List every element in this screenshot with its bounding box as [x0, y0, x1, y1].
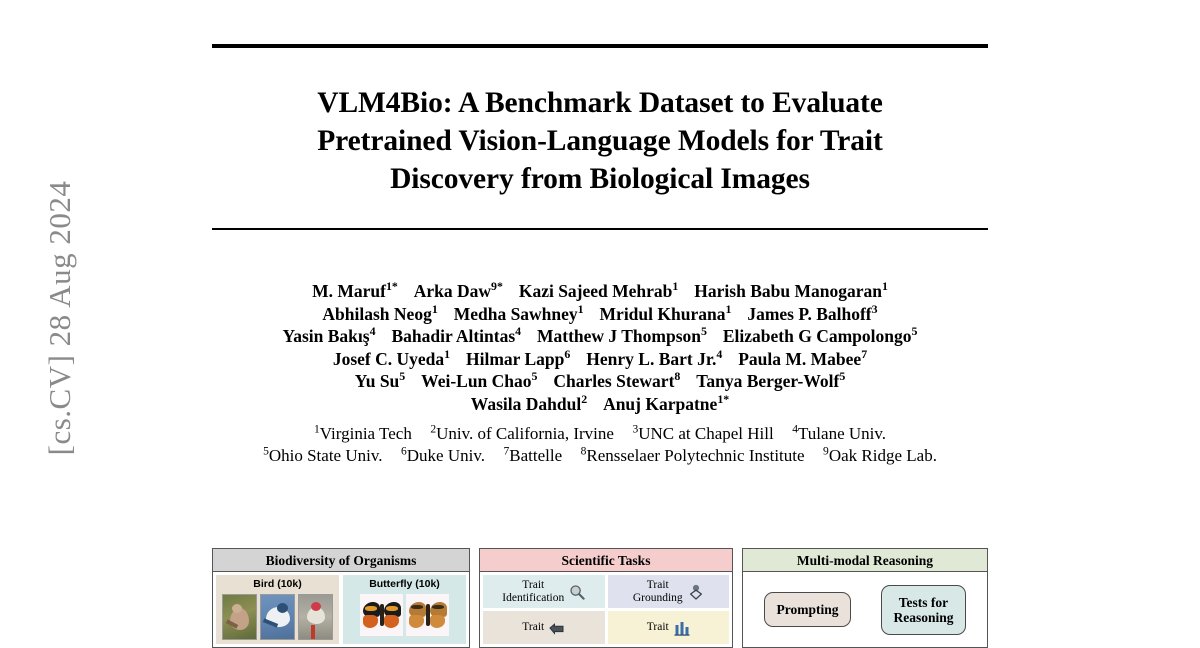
- author-affil-marker: 1: [672, 279, 678, 293]
- author-affil-marker: 5: [399, 370, 405, 384]
- author-affil-marker: 8: [674, 370, 680, 384]
- affiliation-name: Oak Ridge Lab.: [829, 446, 937, 465]
- magnifier-icon: [569, 584, 585, 600]
- author-affil-marker: 1*: [386, 279, 398, 293]
- affiliation-name: Duke Univ.: [407, 446, 485, 465]
- affiliation-name: UNC at Chapel Hill: [638, 424, 774, 443]
- author: Arka Daw9*: [414, 281, 503, 301]
- author-name: Paula M. Mabee: [738, 349, 861, 369]
- author-line: Wasila Dahdul2 Anuj Karpatne1*: [212, 393, 988, 416]
- affiliation: 4Tulane Univ.: [792, 424, 886, 443]
- bird-photo-thumbnail: [260, 594, 295, 640]
- task-cell-trait-grounding[interactable]: Trait Grounding: [608, 575, 730, 608]
- affiliation-name: Battelle: [509, 446, 562, 465]
- author-affil-marker: 6: [564, 347, 570, 361]
- title-line-3: Discovery from Biological Images: [230, 160, 970, 198]
- author-affil-marker: 5: [912, 324, 918, 338]
- author: Anuj Karpatne1*: [603, 394, 729, 414]
- task-label-trait-referring: Trait: [522, 621, 544, 634]
- author: Kazi Sajeed Mehrab1: [519, 281, 679, 301]
- author: Elizabeth G Campolongo5: [723, 326, 918, 346]
- figure-panel-biodiversity: Biodiversity of Organisms Bird (10k) But…: [212, 548, 470, 648]
- author: Medha Sawhney1: [454, 304, 584, 324]
- author-affil-marker: 1: [725, 302, 731, 316]
- author: Hilmar Lapp6: [466, 349, 570, 369]
- author-name: Medha Sawhney: [454, 304, 578, 324]
- task-label-trait-counting: Trait: [647, 621, 669, 634]
- panel-body-biodiversity: Bird (10k) Butterfly (10k): [213, 572, 469, 647]
- author-affil-marker: 7: [861, 347, 867, 361]
- author-affil-marker: 9*: [491, 279, 503, 293]
- affiliation-name: Tulane Univ.: [798, 424, 886, 443]
- author: Mridul Khurana1: [600, 304, 732, 324]
- affiliation: 7Battelle: [503, 446, 562, 465]
- author-affil-marker: 4: [370, 324, 376, 338]
- bird-thumbnails: [222, 594, 333, 640]
- author-name: M. Maruf: [312, 281, 386, 301]
- taxon-cell-butterfly: Butterfly (10k): [343, 575, 466, 644]
- author: Abhilash Neog1: [322, 304, 437, 324]
- title-rule-bottom: [212, 228, 988, 230]
- author: Yu Su5: [355, 371, 406, 391]
- author-name: Charles Stewart: [553, 371, 674, 391]
- hand-pointer-icon: [549, 620, 565, 636]
- author-affil-marker: 1*: [717, 392, 729, 406]
- author-affil-marker: 5: [839, 370, 845, 384]
- author-line: Josef C. Uyeda1 Hilmar Lapp6 Henry L. Ba…: [212, 348, 988, 371]
- author: Tanya Berger-Wolf5: [696, 371, 845, 391]
- author-name: Wei-Lun Chao: [421, 371, 531, 391]
- author-name: Abhilash Neog: [322, 304, 431, 324]
- tests-for-reasoning-button[interactable]: Tests for Reasoning: [881, 585, 965, 635]
- author-affil-marker: 4: [716, 347, 722, 361]
- location-pin-icon: [688, 584, 704, 600]
- affiliation: 2Univ. of California, Irvine: [430, 424, 614, 443]
- panel-body-multimodal-reasoning: Prompting Tests for Reasoning: [743, 572, 987, 647]
- author: James P. Balhoff3: [747, 304, 877, 324]
- author: M. Maruf1*: [312, 281, 398, 301]
- butterfly-photo-thumbnail: [406, 594, 449, 636]
- author-name: Bahadir Altintas: [391, 326, 515, 346]
- author-line: M. Maruf1* Arka Daw9* Kazi Sajeed Mehrab…: [212, 280, 988, 303]
- author-affil-marker: 1: [432, 302, 438, 316]
- author-list: M. Maruf1* Arka Daw9* Kazi Sajeed Mehrab…: [212, 280, 988, 416]
- panel-header-multimodal-reasoning: Multi-modal Reasoning: [743, 549, 987, 572]
- prompting-button[interactable]: Prompting: [764, 592, 850, 627]
- affiliation-name: Ohio State Univ.: [269, 446, 383, 465]
- affiliation: 8Rensselaer Polytechnic Institute: [581, 446, 805, 465]
- author: Josef C. Uyeda1: [333, 349, 450, 369]
- panel-header-scientific-tasks: Scientific Tasks: [480, 549, 732, 572]
- task-cell-trait-referring[interactable]: Trait: [483, 611, 605, 644]
- author-affil-marker: 5: [701, 324, 707, 338]
- author-name: Henry L. Bart Jr.: [586, 349, 716, 369]
- page-title: VLM4Bio: A Benchmark Dataset to Evaluate…: [212, 48, 988, 228]
- butterfly-thumbnails: [360, 594, 449, 636]
- task-cell-trait-counting[interactable]: Trait: [608, 611, 730, 644]
- author: Paula M. Mabee7: [738, 349, 867, 369]
- affiliation: 9Oak Ridge Lab.: [823, 446, 937, 465]
- teaser-figure: Biodiversity of Organisms Bird (10k) But…: [212, 548, 988, 648]
- taxon-cell-bird: Bird (10k): [216, 575, 339, 644]
- task-label-trait-grounding: Trait Grounding: [633, 579, 683, 605]
- title-line-2: Pretrained Vision-Language Models for Tr…: [230, 122, 970, 160]
- author-line: Yu Su5 Wei-Lun Chao5 Charles Stewart8 Ta…: [212, 370, 988, 393]
- author-name: Hilmar Lapp: [466, 349, 564, 369]
- affiliation-name: Virginia Tech: [320, 424, 412, 443]
- author-affil-marker: 4: [515, 324, 521, 338]
- author: Bahadir Altintas4: [391, 326, 521, 346]
- author-name: Harish Babu Manogaran: [694, 281, 882, 301]
- figure-panel-scientific-tasks: Scientific Tasks Trait Identification Tr…: [479, 548, 733, 648]
- author-name: Elizabeth G Campolongo: [723, 326, 912, 346]
- affiliation: 1Virginia Tech: [314, 424, 412, 443]
- arxiv-stamp: [cs.CV] 28 Aug 2024: [0, 0, 100, 648]
- affiliation-name: Univ. of California, Irvine: [436, 424, 614, 443]
- affiliation-name: Rensselaer Polytechnic Institute: [586, 446, 804, 465]
- taxon-label-butterfly: Butterfly (10k): [369, 577, 440, 591]
- author-name: Tanya Berger-Wolf: [696, 371, 839, 391]
- butterfly-photo-thumbnail: [360, 594, 403, 636]
- author: Henry L. Bart Jr.4: [586, 349, 722, 369]
- taxon-label-bird: Bird (10k): [253, 577, 301, 591]
- affiliation-line: 5Ohio State Univ. 6Duke Univ. 7Battelle …: [212, 445, 988, 468]
- author-affil-marker: 3: [872, 302, 878, 316]
- author: Yasin Bakış4: [283, 326, 376, 346]
- author: Matthew J Thompson5: [537, 326, 707, 346]
- author-name: Matthew J Thompson: [537, 326, 701, 346]
- bird-photo-thumbnail: [298, 594, 333, 640]
- title-line-1: VLM4Bio: A Benchmark Dataset to Evaluate: [230, 84, 970, 122]
- author-name: Arka Daw: [414, 281, 491, 301]
- paper-column: VLM4Bio: A Benchmark Dataset to Evaluate…: [212, 0, 988, 648]
- author-name: James P. Balhoff: [747, 304, 871, 324]
- author-affil-marker: 5: [532, 370, 538, 384]
- author-line: Yasin Bakış4 Bahadir Altintas4 Matthew J…: [212, 325, 988, 348]
- author-affil-marker: 1: [444, 347, 450, 361]
- author-line: Abhilash Neog1 Medha Sawhney1 Mridul Khu…: [212, 303, 988, 326]
- affiliation-line: 1Virginia Tech 2Univ. of California, Irv…: [212, 423, 988, 446]
- author-affil-marker: 1: [578, 302, 584, 316]
- author: Wei-Lun Chao5: [421, 371, 537, 391]
- affiliation: 6Duke Univ.: [401, 446, 485, 465]
- author-affil-marker: 1: [882, 279, 888, 293]
- panel-body-scientific-tasks: Trait Identification Trait Grounding Tra…: [480, 572, 732, 647]
- bar-chart-icon: [674, 620, 690, 636]
- author-name: Kazi Sajeed Mehrab: [519, 281, 673, 301]
- panel-header-biodiversity: Biodiversity of Organisms: [213, 549, 469, 572]
- author-name: Anuj Karpatne: [603, 394, 717, 414]
- affiliation: 3UNC at Chapel Hill: [632, 424, 773, 443]
- bird-photo-thumbnail: [222, 594, 257, 640]
- affiliation-list: 1Virginia Tech 2Univ. of California, Irv…: [212, 423, 988, 468]
- author: Wasila Dahdul2: [471, 394, 587, 414]
- affiliation: 5Ohio State Univ.: [263, 446, 382, 465]
- author-name: Wasila Dahdul: [471, 394, 581, 414]
- arxiv-stamp-text: [cs.CV] 28 Aug 2024: [42, 108, 78, 528]
- figure-panel-multimodal-reasoning: Multi-modal Reasoning Prompting Tests fo…: [742, 548, 988, 648]
- author-affil-marker: 2: [581, 392, 587, 406]
- author: Charles Stewart8: [553, 371, 680, 391]
- task-label-trait-identification: Trait Identification: [502, 579, 564, 605]
- author: Harish Babu Manogaran1: [694, 281, 888, 301]
- author-name: Josef C. Uyeda: [333, 349, 444, 369]
- author-name: Mridul Khurana: [600, 304, 726, 324]
- author-name: Yu Su: [355, 371, 400, 391]
- author-name: Yasin Bakış: [283, 326, 370, 346]
- task-cell-trait-identification[interactable]: Trait Identification: [483, 575, 605, 608]
